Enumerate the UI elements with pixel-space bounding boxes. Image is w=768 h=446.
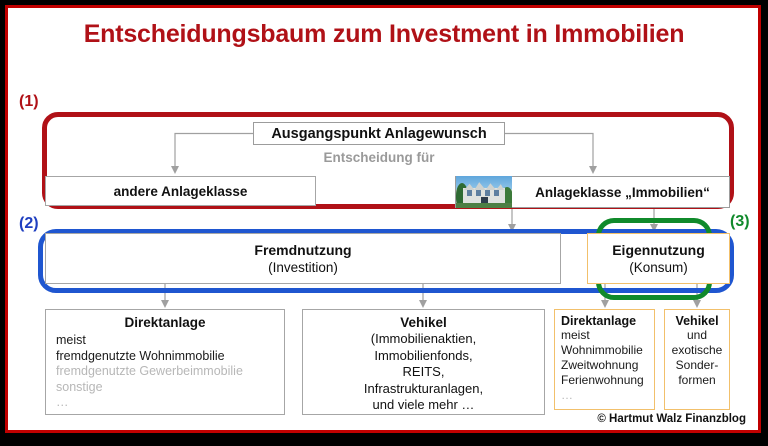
node-direktanlage-fremd-list: meistfremdgenutzte Wohnimmobiliefremdgen… [46,333,284,411]
node-eigennutzung-head: Eigennutzung [612,242,705,259]
group-label-1: (1) [19,93,39,111]
diagram-canvas: Entscheidungsbaum zum Investment in Immo… [0,0,768,446]
node-andere-anlageklasse[interactable]: andere Anlageklasse [45,176,316,206]
list-item: Wohnimmobilie [555,343,654,358]
list-item: REITS, [303,364,544,381]
node-direktanlage-fremd-head: Direktanlage [46,315,284,330]
node-anlageklasse-immobilien-label: Anlageklasse „Immobilien“ [512,185,729,200]
node-fremdnutzung-head: Fremdnutzung [254,242,351,259]
node-vehikel-fremdnutzung[interactable]: Vehikel (Immobilienaktien,Immobilienfond… [302,309,545,415]
group-label-3: (3) [730,213,750,231]
node-vehikel-eigen-head: Vehikel [665,314,729,328]
list-item: Infrastrukturanlagen, [303,381,544,398]
list-item: sonstige [46,380,284,396]
node-direktanlage-eigen-head: Direktanlage [555,314,654,328]
list-item: … [46,395,284,411]
node-vehikel-fremd-head: Vehikel [303,315,544,330]
list-item: fremdgenutzte Wohnimmobilie [46,349,284,365]
node-fremdnutzung-sub: (Investition) [268,259,338,276]
copyright-notice: © Hartmut Walz Finanzblog [597,413,746,425]
list-item: … [555,388,654,403]
node-fremdnutzung[interactable]: Fremdnutzung (Investition) [45,233,561,284]
node-direktanlage-eigennutzung[interactable]: Direktanlage meistWohnimmobilieZweitwohn… [554,309,655,410]
list-item: (Immobilienaktien, [303,331,544,348]
node-direktanlage-fremdnutzung[interactable]: Direktanlage meistfremdgenutzte Wohnimmo… [45,309,285,415]
label-entscheidung-fuer: Entscheidung für [253,150,505,165]
node-anlageklasse-immobilien[interactable]: Anlageklasse „Immobilien“ [455,176,730,208]
list-item: meist [46,333,284,349]
list-item: meist [555,328,654,343]
node-eigennutzung[interactable]: Eigennutzung (Konsum) [587,233,730,284]
node-vehikel-fremd-list: (Immobilienaktien,Immobilienfonds,REITS,… [303,331,544,414]
node-vehikel-eigen-list: undexotischeSonder-formen [665,328,729,388]
list-item: Ferienwohnung [555,373,654,388]
list-item: und [665,328,729,343]
list-item: exotische [665,343,729,358]
list-item: Zweitwohnung [555,358,654,373]
page-title: Entscheidungsbaum zum Investment in Immo… [0,20,768,49]
node-vehikel-eigennutzung[interactable]: Vehikel undexotischeSonder-formen [664,309,730,410]
house-photo [456,176,512,208]
node-direktanlage-eigen-list: meistWohnimmobilieZweitwohnungFerienwohn… [555,328,654,403]
slide-canvas: Entscheidungsbaum zum Investment in Immo… [0,0,768,446]
list-item: formen [665,373,729,388]
list-item: Sonder- [665,358,729,373]
node-ausgangspunkt[interactable]: Ausgangspunkt Anlagewunsch [253,122,505,145]
group-label-2: (2) [19,215,39,233]
list-item: und viele mehr … [303,397,544,414]
node-eigennutzung-sub: (Konsum) [629,259,688,276]
list-item: Immobilienfonds, [303,348,544,365]
list-item: fremdgenutzte Gewerbeimmobilie [46,364,284,380]
